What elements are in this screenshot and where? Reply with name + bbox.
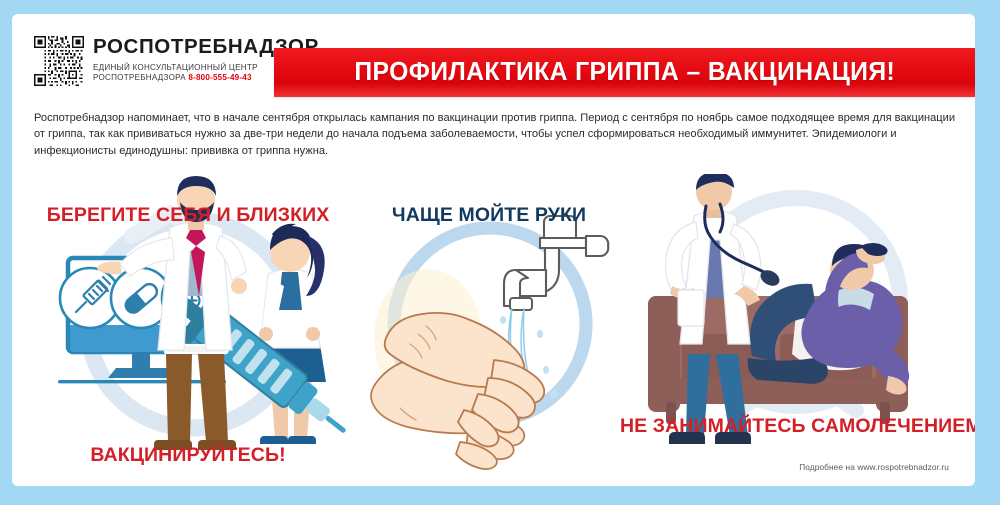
footer-note: Подробнее на www.rospotrebnadzor.ru — [799, 462, 949, 472]
panel-wash-hands-heading: ЧАЩЕ МОЙТЕ РУКИ — [364, 204, 614, 227]
headline-text: ПРОФИЛАКТИКА ГРИППА – ВАКЦИНАЦИЯ! — [354, 58, 895, 87]
panel-no-self-treatment-heading: НЕ ЗАНИМАЙТЕСЬ САМОЛЕЧЕНИЕМ! — [620, 415, 972, 438]
qr-code-icon — [34, 36, 84, 86]
intro-paragraph: Роспотребнадзор напоминает, что в начале… — [34, 110, 959, 159]
panel-protect-heading: БЕРЕГИТЕ СЕБЯ И БЛИЗКИХ — [20, 204, 356, 227]
poster-card: РОСПОТРЕБНАДЗОР ЕДИНЫЙ КОНСУЛЬТАЦИОННЫЙ … — [12, 14, 975, 486]
panel-wash-hands: ЧАЩЕ МОЙТЕ РУКИ — [364, 174, 614, 486]
logo-subtitle-line2: РОСПОТРЕБНАДЗОРА — [93, 73, 186, 82]
doctor-examining-patient-on-couch-illustration — [620, 174, 972, 486]
poster-header: РОСПОТРЕБНАДЗОР ЕДИНЫЙ КОНСУЛЬТАЦИОННЫЙ … — [12, 14, 975, 100]
panel-protect-caption: ВАКЦИНИРУЙТЕСЬ! — [20, 444, 356, 467]
headline-banner: ПРОФИЛАКТИКА ГРИППА – ВАКЦИНАЦИЯ! — [274, 48, 975, 97]
panel-no-self-treatment: НЕ ЗАНИМАЙТЕСЬ САМОЛЕЧЕНИЕМ! — [620, 174, 972, 486]
logo-subtitle-line1: ЕДИНЫЙ КОНСУЛЬТАЦИОННЫЙ ЦЕНТР — [93, 63, 258, 72]
hotline-phone: 8-800-555-49-43 — [188, 73, 251, 82]
panel-protect: БЕРЕГИТЕ СЕБЯ И БЛИЗКИХ ВАКЦИНИРУЙТЕСЬ! — [20, 174, 356, 486]
illustration-panels: БЕРЕГИТЕ СЕБЯ И БЛИЗКИХ ВАКЦИНИРУЙТЕСЬ! — [12, 174, 975, 486]
